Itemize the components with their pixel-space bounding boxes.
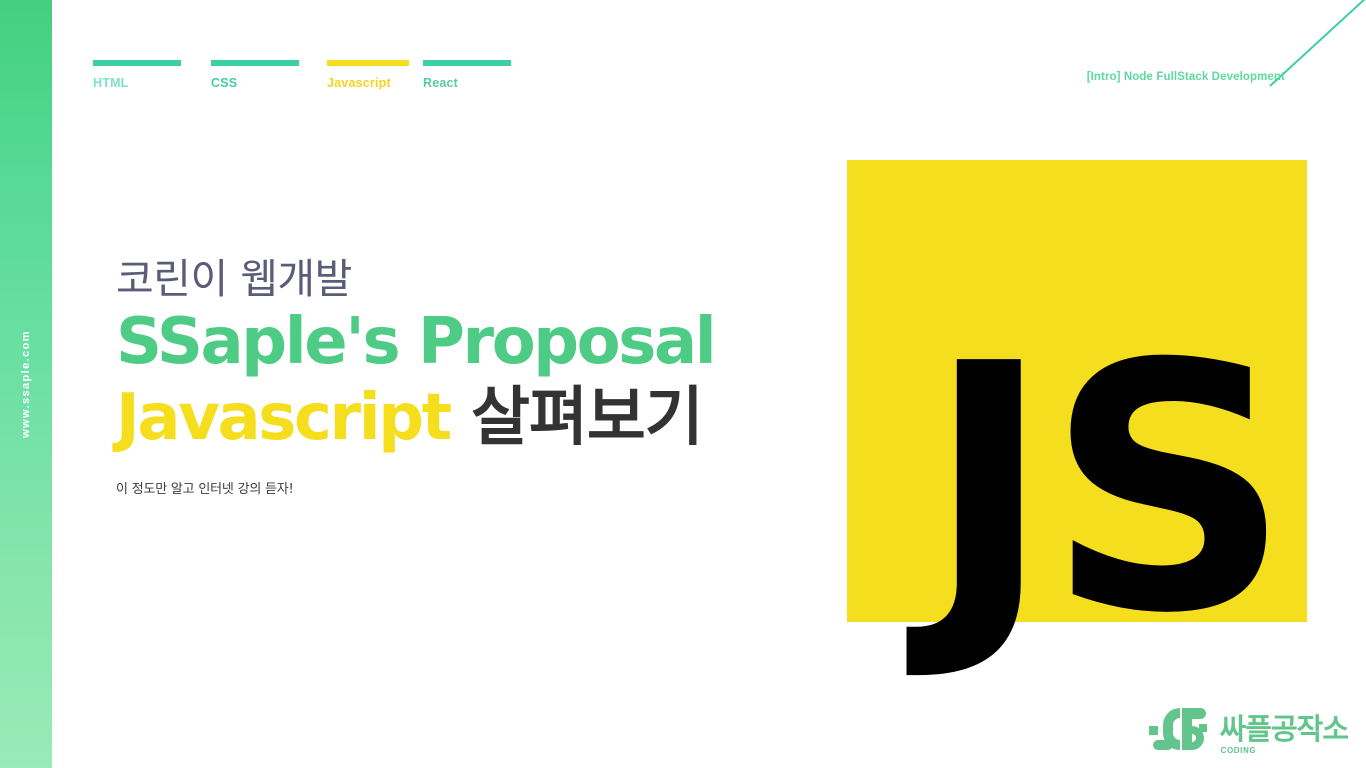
javascript-logo-card: JS: [847, 160, 1307, 622]
website-url-vertical: www.ssaple.com: [20, 330, 32, 438]
nav-bar-css: [211, 60, 299, 66]
headline-subline: 이 정도만 알고 인터넷 강의 듣자!: [116, 478, 836, 497]
brand-wordmark: 싸플공작소 CODING: [1220, 715, 1348, 744]
ssaple-logo-icon: [1149, 704, 1211, 754]
left-gradient-rail: www.ssaple.com: [0, 0, 52, 768]
nav-label-react: React: [423, 76, 511, 90]
javascript-logo-label: JS: [926, 320, 1285, 660]
nav-bar-html: [93, 60, 181, 66]
nav-label-html: HTML: [93, 76, 181, 90]
topic-nav: HTML CSS Javascript React: [93, 60, 513, 96]
corner-diagonal-accent: [1258, 0, 1366, 98]
nav-item-react[interactable]: React: [423, 60, 511, 90]
brand-logo: 싸플공작소 CODING: [1149, 704, 1348, 754]
nav-item-html[interactable]: HTML: [93, 60, 181, 90]
nav-bar-javascript: [327, 60, 409, 66]
course-tag: [Intro] Node FullStack Development: [1087, 71, 1285, 83]
headline-line-2-rest: 살펴보기: [450, 381, 703, 455]
nav-label-css: CSS: [211, 76, 299, 90]
headline-eyebrow: 코린이 웹개발: [116, 258, 836, 301]
headline-block: 코린이 웹개발 SSaple's Proposal Javascript 살펴보…: [116, 258, 836, 497]
nav-bar-react: [423, 60, 511, 66]
headline-line-1: SSaple's Proposal: [116, 305, 836, 381]
headline-line-2-highlight: Javascript: [116, 381, 450, 455]
nav-item-javascript[interactable]: Javascript: [327, 60, 409, 90]
slide-canvas: www.ssaple.com HTML CSS Javascript React…: [0, 0, 1366, 768]
nav-label-javascript: Javascript: [327, 76, 409, 90]
headline-line-2: Javascript 살펴보기: [116, 381, 836, 457]
brand-subtitle: CODING: [1221, 746, 1257, 755]
nav-item-css[interactable]: CSS: [211, 60, 299, 90]
brand-name: 싸플공작소: [1220, 715, 1348, 744]
